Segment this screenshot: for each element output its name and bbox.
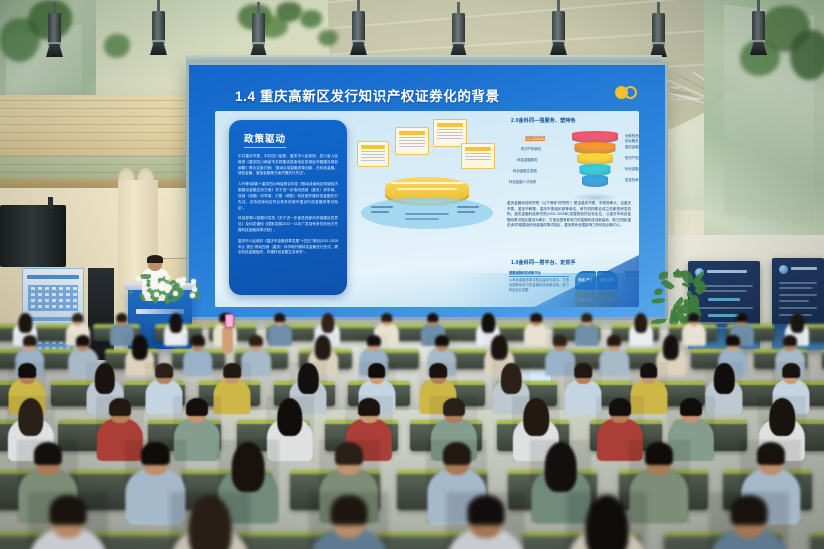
flower-leaf	[139, 274, 151, 280]
policy-card-heading: 政策驱动	[244, 131, 286, 148]
shadow-overlay	[567, 492, 647, 549]
audience-hair	[482, 313, 495, 333]
shadow-overlay	[309, 492, 389, 549]
flower-bloom	[162, 284, 167, 289]
shadow-overlay	[709, 492, 789, 549]
flow-card	[461, 143, 495, 169]
audience-hair	[688, 313, 699, 322]
platform-flow-diagram	[357, 117, 497, 229]
flower-bloom	[165, 275, 170, 280]
funnel-right-label: 全新的西部(重庆)科创金融综合服务平台	[625, 134, 639, 143]
funnel-left-label: 知识产权转化	[521, 146, 541, 151]
funnel-right-label: 知识产权融新	[625, 156, 639, 161]
flower-bloom	[192, 287, 197, 292]
section-2-body-text: 重庆金融科技研究院（以下简称"研究院"）是由重庆市委、市政府牵头，由重庆市委、重…	[507, 201, 631, 229]
flow-card	[395, 127, 429, 155]
flower-bloom	[154, 292, 159, 297]
banner-logo-text	[707, 270, 747, 273]
funnel-right-label: 科创金融大屏	[625, 167, 639, 172]
audience-hair	[19, 313, 32, 333]
audience-hair	[274, 313, 285, 322]
speaker-mount	[48, 197, 53, 209]
title-circles-decoration	[615, 86, 643, 99]
conference-hall-photo: 1.4 重庆高新区发行知识产权证券化的背景 政策驱动 中共重庆市委、中共四川省委…	[0, 0, 824, 549]
presentation-screen-frame: 1.4 重庆高新区发行知识产权证券化的背景 政策驱动 中共重庆市委、中共四川省委…	[186, 62, 668, 320]
audience-member	[599, 334, 629, 376]
flower-bloom	[136, 276, 141, 281]
line-array-speaker	[0, 205, 66, 267]
funnel-left-label: 科创金融生态圈	[513, 168, 537, 173]
raised-arm	[222, 326, 233, 354]
funnel-chart: 金融科技研发全新的西部(重庆)科创金融综合服务平台知识产权转化重庆金融科技研究中…	[569, 131, 621, 195]
banner-logo-text	[791, 267, 817, 270]
flow-base-ellipse	[361, 197, 493, 229]
presenter-hair	[147, 255, 163, 263]
presentation-screen: 1.4 重庆高新区发行知识产权证券化的背景 政策驱动 中共重庆市委、中共四川省委…	[189, 65, 665, 317]
podium-flower-arrangement	[118, 268, 204, 304]
audience-shoulders	[575, 323, 599, 346]
funnel-left-label: 金融科技研发	[525, 135, 545, 141]
audience-hair	[531, 313, 542, 322]
smartphone-recording	[225, 314, 234, 328]
funnel-right-label: 促进的承接研发资金	[625, 178, 639, 183]
shadow-overlay	[599, 334, 629, 376]
flower-leaf	[128, 290, 134, 295]
audience-member	[575, 312, 600, 346]
audience-hair	[736, 313, 747, 322]
audience-member	[567, 492, 647, 549]
flower-bloom	[191, 279, 196, 284]
policy-driver-card: 政策驱动 中共重庆市委、中共四川省委、重庆市人民政府、四川省人民政府《重庆四川两…	[229, 120, 347, 295]
plant-leaf	[659, 272, 668, 280]
policy-paragraph: 中共重庆市委、中共四川省委、重庆市人民政府、四川省人民政府《重庆四川两省市共同建…	[238, 154, 338, 177]
funnel-right-label: 重庆金融科技研究中心	[625, 145, 639, 150]
funnel-segment	[582, 175, 608, 187]
flow-card	[357, 141, 389, 167]
funnel-left-label: 科技金融服务	[517, 157, 537, 162]
audience-area	[0, 300, 824, 549]
audience-hair	[427, 313, 438, 322]
shadow-overlay	[28, 492, 108, 549]
audience-hair	[634, 313, 647, 333]
section-1-header: 1.0金科同—搭平台、定抓手	[511, 259, 576, 266]
audience-hair	[72, 313, 83, 322]
audience-hair	[791, 313, 804, 333]
plant-leaf	[653, 287, 663, 296]
shadow-overlay	[446, 492, 526, 549]
funnel-left-label: 科创金融人才培育	[509, 179, 536, 184]
section-2-header: 2.0金科同—强服务、塑特色	[511, 117, 576, 124]
outline-circle-icon	[624, 86, 637, 99]
shadow-overlay	[170, 492, 250, 549]
audience-member	[309, 492, 389, 549]
audience-member	[28, 492, 108, 549]
policy-paragraph: 人行等6部委＋重庆四川两省联合印发《推动成渝地区双城经济圈建设金融支持方案》关于…	[238, 182, 338, 211]
audience-member	[170, 492, 250, 549]
chair	[810, 532, 824, 549]
audience-member	[446, 492, 526, 549]
audience-hair	[321, 313, 334, 333]
slide-title: 1.4 重庆高新区发行知识产权证券化的背景	[235, 85, 500, 105]
shadow-overlay	[182, 334, 212, 376]
audience-hair	[169, 313, 182, 333]
audience-member	[182, 334, 212, 376]
audience-member	[709, 492, 789, 549]
slide-content-area: 政策驱动 中共重庆市委、中共四川省委、重庆市人民政府、四川省人民政府《重庆四川两…	[215, 111, 639, 307]
foliage	[790, 30, 824, 80]
audience-hair	[116, 313, 127, 322]
policy-paragraph: 重庆市人民政府《重庆市金融改革发展"十四五"规划(2021-2025年)》提出"…	[238, 239, 338, 256]
policy-paragraph: 科技部等12部委印发的《关于进一步促进西部科学城建设的意见》及印发通知《国家发展…	[238, 216, 338, 233]
audience-hair	[381, 313, 392, 322]
banner-logo-icon	[779, 265, 788, 274]
audience-hair	[581, 313, 592, 322]
audience-member	[628, 312, 653, 346]
